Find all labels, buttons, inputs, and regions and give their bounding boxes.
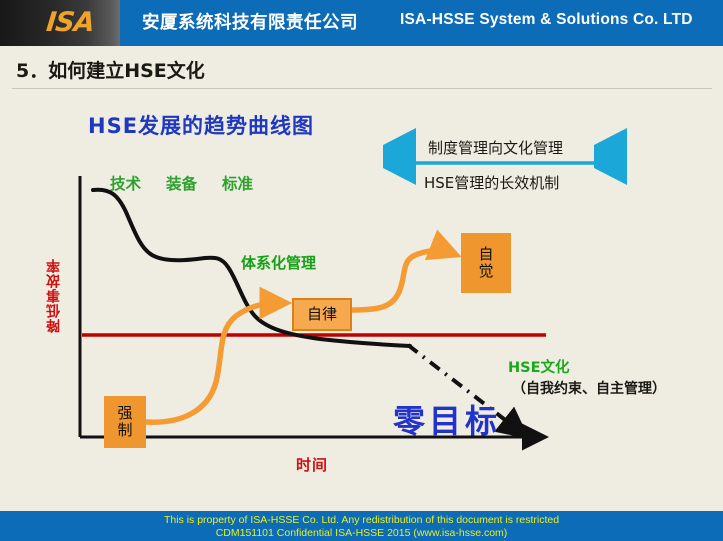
- progress-curve-upper: [350, 251, 454, 310]
- banner-line-1: 制度管理向文化管理: [428, 137, 563, 158]
- footer-line-2: CDM151101 Confidential ISA-HSSE 2015 (ww…: [0, 527, 723, 539]
- annotation-hse-culture: HSE文化: [508, 356, 569, 377]
- x-axis-label: 时间: [296, 454, 328, 475]
- stage-label-equipment: 装备: [166, 172, 197, 194]
- stage-label-systematic-management: 体系化管理: [241, 252, 316, 273]
- banner-line-2: HSE管理的长效机制: [424, 172, 559, 193]
- stage-label-standard: 标准: [222, 172, 253, 194]
- stage-box-mandatory: 强制: [104, 396, 146, 448]
- stage-box-self-discipline: 自律: [292, 298, 352, 331]
- annotation-zero-goal: 零目标: [393, 396, 501, 442]
- footer-line-1: This is property of ISA-HSSE Co. Ltd. An…: [0, 514, 723, 526]
- stage-label-technology: 技术: [110, 172, 141, 194]
- y-axis-label: 降低事故率: [44, 258, 66, 333]
- chart-graphics: [0, 0, 723, 541]
- slide-canvas: ISA 安厦系统科技有限责任公司 ISA-HSSE System & Solut…: [0, 0, 723, 541]
- annotation-hse-culture-sub: （自我约束、自主管理）: [512, 378, 666, 398]
- stage-box-self-awareness: 自觉: [461, 233, 511, 293]
- banner-arrow-right: [594, 128, 627, 185]
- banner-arrow-left: [383, 128, 416, 185]
